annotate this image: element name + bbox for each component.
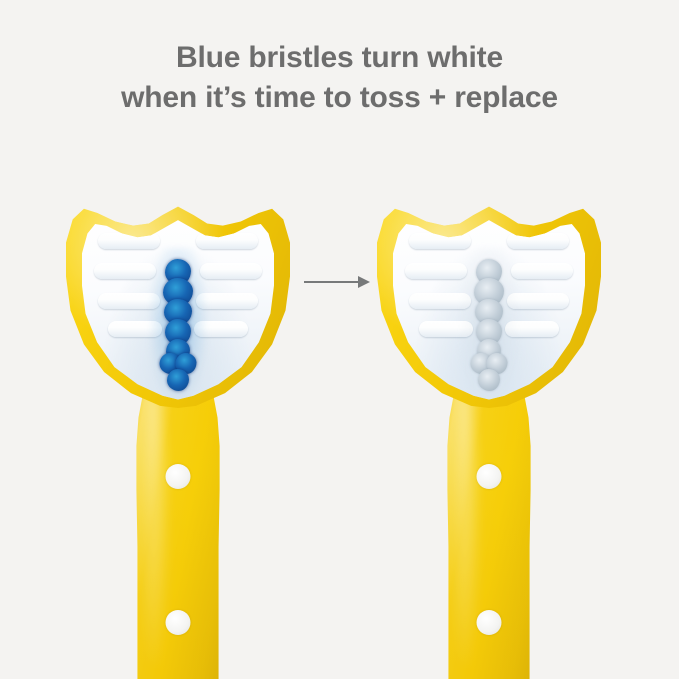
handle-grip-dot xyxy=(477,610,502,635)
bristle-tuft xyxy=(405,263,467,279)
bristle-tuft xyxy=(511,263,573,279)
handle-grip-dot xyxy=(166,610,191,635)
indicator-bristle-column xyxy=(472,259,506,389)
handle-grip-dot xyxy=(166,464,191,489)
indicator-bristle-column xyxy=(161,259,195,389)
arrow-head xyxy=(358,276,370,288)
toothbrush-handle xyxy=(126,364,230,679)
right-arrow-icon xyxy=(304,276,370,288)
indicator-blob xyxy=(478,369,500,391)
toothbrush-head xyxy=(377,196,601,408)
product-infographic: Blue bristles turn white when it’s time … xyxy=(0,0,679,679)
bristle-tuft xyxy=(200,263,262,279)
toothbrush-handle xyxy=(437,364,541,679)
toothbrush-head xyxy=(66,196,290,408)
toothbrush-before xyxy=(66,196,290,679)
arrow-shaft xyxy=(304,281,358,283)
toothbrush-after xyxy=(377,196,601,679)
headline-line-2: when it’s time to toss + replace xyxy=(0,78,679,118)
handle-grip-dot xyxy=(477,464,502,489)
bristle-tuft xyxy=(94,263,156,279)
page-title: Blue bristles turn white when it’s time … xyxy=(0,38,679,117)
headline-line-1: Blue bristles turn white xyxy=(0,38,679,78)
indicator-blob xyxy=(167,369,189,391)
